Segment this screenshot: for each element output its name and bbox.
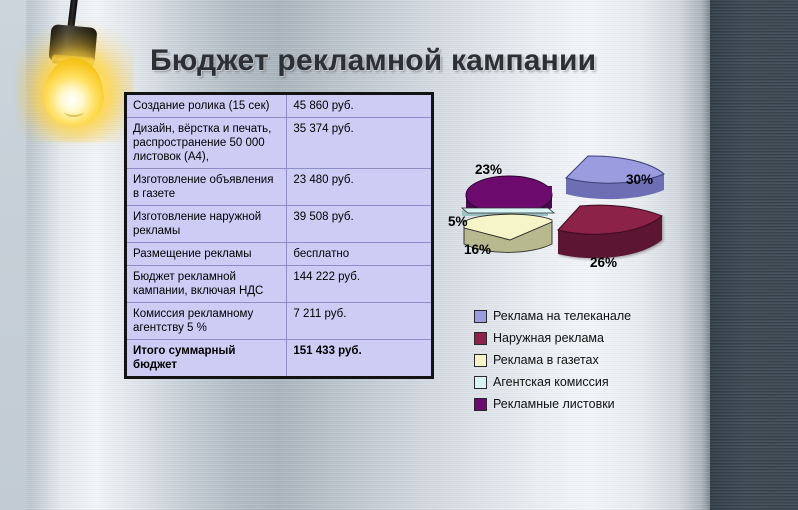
table-row: Дизайн, вёрстка и печать, распространени… [126,118,433,169]
legend-color-swatch [474,398,487,411]
table-cell-item: Комиссия рекламному агентству 5 % [126,303,287,340]
legend-item: Наружная реклама [474,328,631,348]
table-cell-amount: 7 211 руб. [287,303,433,340]
legend-color-swatch [474,332,487,345]
pie-percent-label: 16% [464,242,491,257]
legend-item-label: Наружная реклама [493,331,604,345]
legend-item-label: Реклама на телеканале [493,309,631,323]
table-row: Итого суммарный бюджет151 433 руб. [126,340,433,378]
pie-percent-label: 23% [475,162,502,177]
page-title: Бюджет рекламной кампании [150,44,596,78]
table-row: Комиссия рекламному агентству 5 %7 211 р… [126,303,433,340]
slide: Бюджет рекламной кампании Создание ролик… [0,0,798,510]
legend-item-label: Реклама в газетах [493,353,599,367]
legend-color-swatch [474,310,487,323]
legend-item: Рекламные листовки [474,394,631,414]
pie-percent-label: 5% [448,214,468,229]
legend-item: Реклама в газетах [474,350,631,370]
legend-item: Агентская комиссия [474,372,631,392]
table-row: Изготовление наружной рекламы39 508 руб. [126,206,433,243]
table-cell-item: Изготовление объявления в газете [126,169,287,206]
table-cell-amount: 39 508 руб. [287,206,433,243]
table-cell-amount: бесплатно [287,243,433,266]
legend-item-label: Рекламные листовки [493,397,615,411]
table-row: Изготовление объявления в газете23 480 р… [126,169,433,206]
table-row: Создание ролика (15 сек)45 860 руб. [126,94,433,118]
table-cell-amount: 144 222 руб. [287,266,433,303]
table-cell-item: Создание ролика (15 сек) [126,94,287,118]
right-edge-panel [710,0,798,510]
pie-percent-label: 30% [626,172,653,187]
chart-legend: Реклама на телеканалеНаружная рекламаРек… [474,306,631,416]
pie-chart: 30%26%23%16%5% [448,150,678,300]
table-cell-amount: 23 480 руб. [287,169,433,206]
legend-color-swatch [474,376,487,389]
right-panel-texture [710,0,798,510]
legend-item-label: Агентская комиссия [493,375,609,389]
table-cell-item: Размещение рекламы [126,243,287,266]
legend-color-swatch [474,354,487,367]
legend-item: Реклама на телеканале [474,306,631,326]
table-cell-item: Итого суммарный бюджет [126,340,287,378]
table-cell-item: Изготовление наружной рекламы [126,206,287,243]
pie-slice-outdoor-ads [558,205,662,258]
table-cell-amount: 151 433 руб. [287,340,433,378]
table-cell-amount: 35 374 руб. [287,118,433,169]
table-cell-item: Дизайн, вёрстка и печать, распространени… [126,118,287,169]
table-cell-amount: 45 860 руб. [287,94,433,118]
table-row: Бюджет рекламной кампании, включая НДС14… [126,266,433,303]
table-row: Размещение рекламыбесплатно [126,243,433,266]
pie-percent-label: 26% [590,255,617,270]
table-cell-item: Бюджет рекламной кампании, включая НДС [126,266,287,303]
budget-table: Создание ролика (15 сек)45 860 руб.Дизай… [124,92,434,379]
